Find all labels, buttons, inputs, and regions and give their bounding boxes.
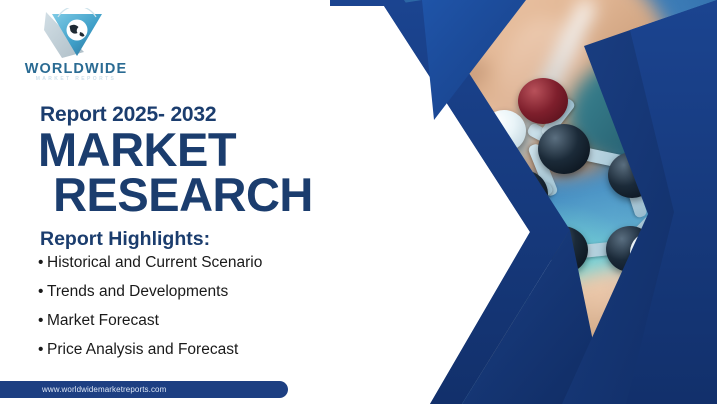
bullet-icon: • [38,313,47,329]
chevron-shapes-graphic [330,0,717,404]
list-item-label: Market Forecast [47,312,159,329]
logo-globe-disc [67,20,88,41]
bullet-icon: • [38,284,47,300]
list-item: •Price Analysis and Forecast [38,342,262,358]
list-item-label: Historical and Current Scenario [47,254,262,271]
brand-name: WORLDWIDE [14,62,138,77]
website-url-bar[interactable]: www.worldwidemarketreports.com [0,381,288,398]
list-item: •Historical and Current Scenario [38,255,262,271]
highlights-list: •Historical and Current Scenario •Trends… [38,255,262,371]
page-title: MARKET RESEARCH [38,128,368,217]
artwork-panel [330,0,717,404]
list-item-label: Trends and Developments [47,283,228,300]
list-item: •Trends and Developments [38,284,262,300]
list-item-label: Price Analysis and Forecast [47,341,238,358]
triangle-globe-logo-icon [44,8,106,62]
bullet-icon: • [38,342,47,358]
brand-logo[interactable]: WORLDWIDE MARKET REPORTS [14,8,138,84]
highlights-heading: Report Highlights: [40,228,210,251]
brand-tagline: MARKET REPORTS [14,77,138,82]
page-title-line-2: RESEARCH [38,173,328,218]
list-item: •Market Forecast [38,313,262,329]
market-research-banner: WORLDWIDE MARKET REPORTS Report 2025- 20… [0,0,717,404]
bullet-icon: • [38,255,47,271]
website-url-label: www.worldwidemarketreports.com [42,385,166,394]
content-pane: WORLDWIDE MARKET REPORTS Report 2025- 20… [0,0,360,404]
